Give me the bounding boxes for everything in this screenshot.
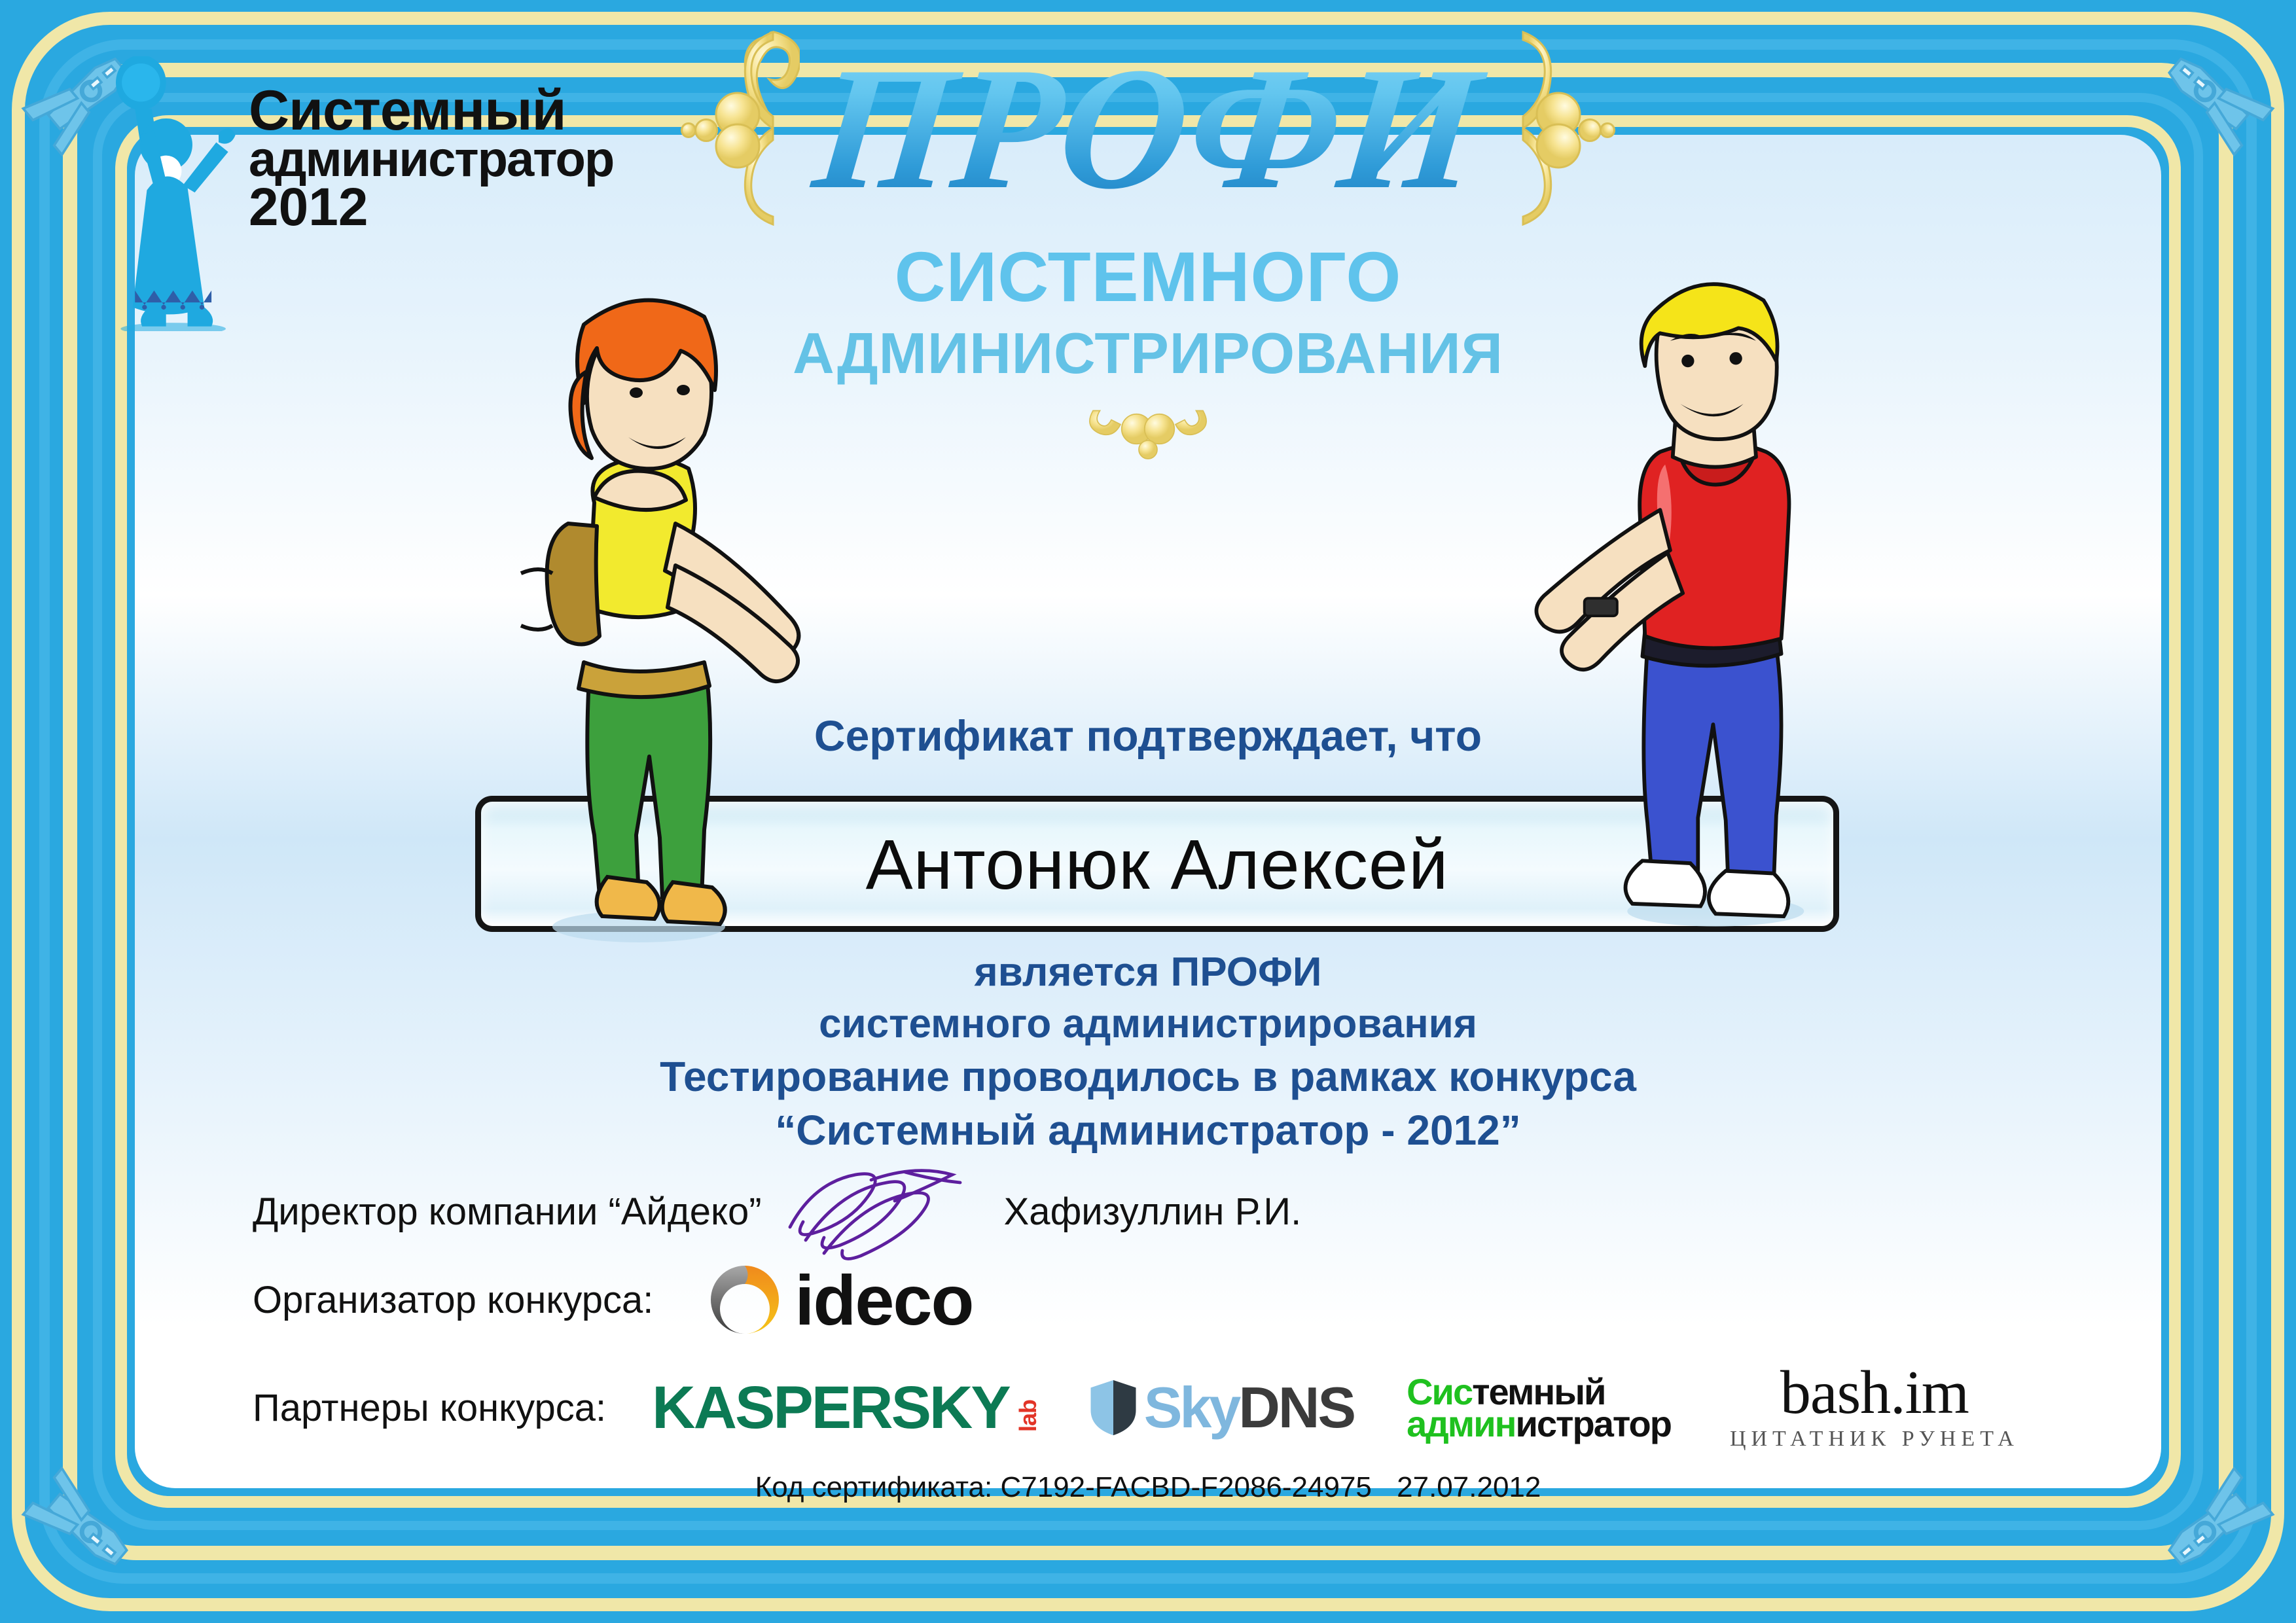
body-line-4: “Системный администратор - 2012” [135,1104,2161,1158]
partners-row: Партнеры конкурса: KASPERSKY lab Sky DNS… [253,1352,2083,1463]
body-lines: является ПРОФИ системного администрирова… [135,946,2161,1158]
sysadmin-admin: админ [1407,1403,1515,1444]
bashim-wordmark: bash.im [1730,1364,2019,1422]
certificate-content: Системный администратор 2012 [135,135,2161,1488]
ideco-ring-icon [706,1260,784,1339]
signature-label: Директор компании “Айдеко” [253,1190,762,1234]
sysadmin-line-2: администратор [1407,1408,1671,1440]
skydns-logo: Sky DNS [1088,1374,1354,1441]
bashim-tagline: ЦИТАТНИК РУНЕТА [1730,1427,2019,1452]
bashim-logo-icon: bash.im ЦИТАТНИК РУНЕТА [1730,1364,2019,1451]
profi-row: ПРОФИ [675,17,1621,240]
ideco-logo: ideco [706,1259,973,1341]
sysadmin-istrator: истратор [1515,1403,1670,1444]
skydns-shield-icon [1088,1378,1139,1438]
kaspersky-wordmark: KASPERSKY [652,1381,1009,1435]
ideco-wordmark: ideco [795,1259,973,1341]
girl-character-illustration [442,246,809,953]
headline-sub-1: СИСТЕМНОГО [895,236,1402,317]
skydns-dns-text: DNS [1238,1374,1354,1441]
certificate-page: Системный администратор 2012 [0,0,2296,1623]
gold-bracket-ornament-icon [675,20,800,236]
certificate-code-line: Код сертификата: C7192-FACBD-F2086-24975… [135,1471,2161,1504]
body-line-2: системного администрирования [135,998,2161,1050]
kaspersky-lab-suffix: lab [1014,1400,1042,1432]
organizer-label: Организатор конкурса: [253,1278,653,1322]
body-line-1: является ПРОФИ [135,946,2161,998]
skydns-sky-text: Sky [1144,1374,1239,1441]
body-line-3: Тестирование проводилось в рамках конкур… [135,1050,2161,1104]
code-label: Код сертификата: [755,1471,993,1503]
sysadmin-logo-icon: Системный администратор [1407,1376,1671,1440]
gold-bracket-ornament-icon [1496,20,1621,236]
organizer-row: Организатор конкурса: ideco [253,1247,1234,1352]
headline-title: ПРОФИ [791,41,1505,216]
signature-name: Хафизуллин Р.И. [1004,1190,1302,1234]
recipient-name: Антонюк Алексей [866,823,1449,905]
issue-date: 27.07.2012 [1397,1471,1541,1503]
partners-label: Партнеры конкурса: [253,1386,606,1430]
headline-sub-2: АДМИНИСТРИРОВАНИЯ [793,320,1503,387]
gold-flourish-ornament-icon [1079,391,1217,463]
code-value: C7192-FACBD-F2086-24975 [1000,1471,1371,1503]
guy-character-illustration [1526,220,1880,946]
kaspersky-logo-icon: KASPERSKY lab [652,1381,1042,1435]
